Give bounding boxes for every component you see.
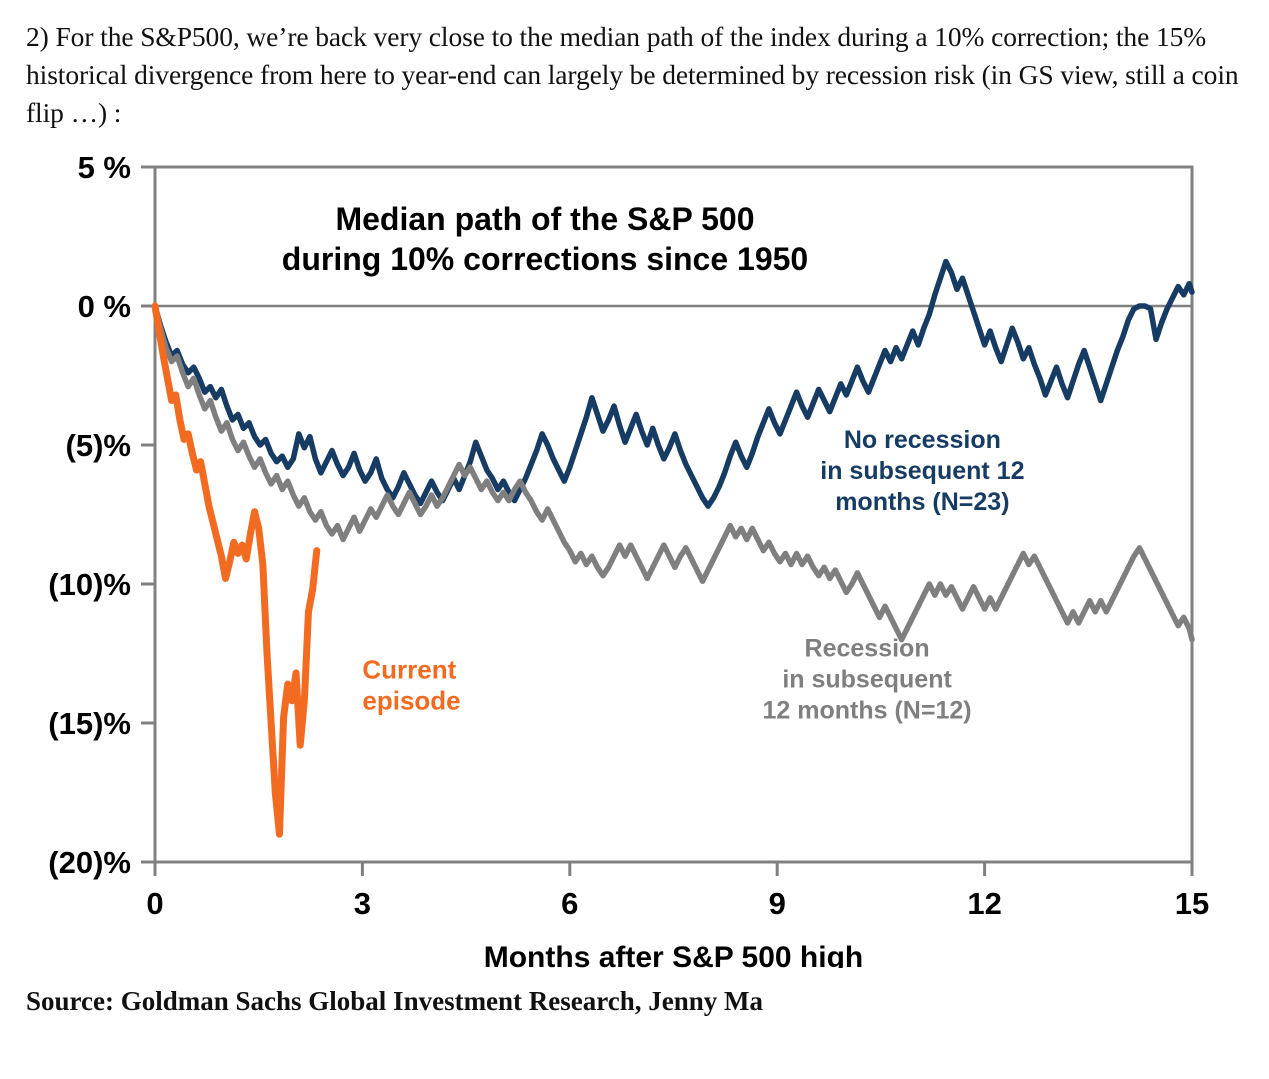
annotation-line: 12 months (N=12): [763, 696, 972, 724]
annotation-recession: Recessionin subsequent12 months (N=12): [763, 634, 972, 724]
headline-text: 2) For the S&P500, we’re back very close…: [26, 18, 1256, 132]
x-tick-label: 9: [769, 886, 786, 921]
x-tick-label: 15: [1175, 886, 1209, 921]
chart-title-line1: Median path of the S&P 500: [335, 201, 754, 237]
x-tick-label: 12: [967, 886, 1001, 921]
series-line: [155, 306, 317, 834]
chart-figure: 5 %0 %(5)%(10)%(15)%(20)%03691215Months …: [0, 148, 1269, 968]
x-tick-label: 6: [561, 886, 578, 921]
source-line: Source: Goldman Sachs Global Investment …: [26, 986, 763, 1017]
series-layer: [155, 262, 1192, 835]
annotation-line: in subsequent 12: [820, 457, 1024, 485]
annotation-line: Current: [362, 655, 456, 685]
annotation-line: Recession: [805, 634, 930, 662]
y-tick-label: (5)%: [66, 428, 131, 463]
annotation-no-recession: No recessionin subsequent 12months (N=23…: [820, 426, 1024, 516]
annotation-line: episode: [362, 686, 460, 716]
x-tick-label: 0: [146, 886, 163, 921]
y-tick-label: 0 %: [78, 289, 131, 324]
y-tick-label: (20)%: [48, 845, 131, 880]
series-line: [155, 262, 1192, 507]
y-tick-label: (15)%: [48, 706, 131, 741]
y-tick-label: (10)%: [48, 567, 131, 602]
annotation-line: in subsequent: [782, 665, 952, 693]
chart-title-line2: during 10% corrections since 1950: [282, 241, 808, 277]
annotation-line: months (N=23): [835, 488, 1009, 516]
x-tick-label: 3: [354, 886, 371, 921]
annotation-current-episode: Currentepisode: [362, 655, 460, 716]
chart-svg: 5 %0 %(5)%(10)%(15)%(20)%03691215Months …: [0, 148, 1269, 968]
x-axis-title: Months after S&P 500 high: [484, 941, 864, 968]
y-tick-label: 5 %: [78, 150, 131, 185]
annotation-line: No recession: [844, 426, 1001, 454]
